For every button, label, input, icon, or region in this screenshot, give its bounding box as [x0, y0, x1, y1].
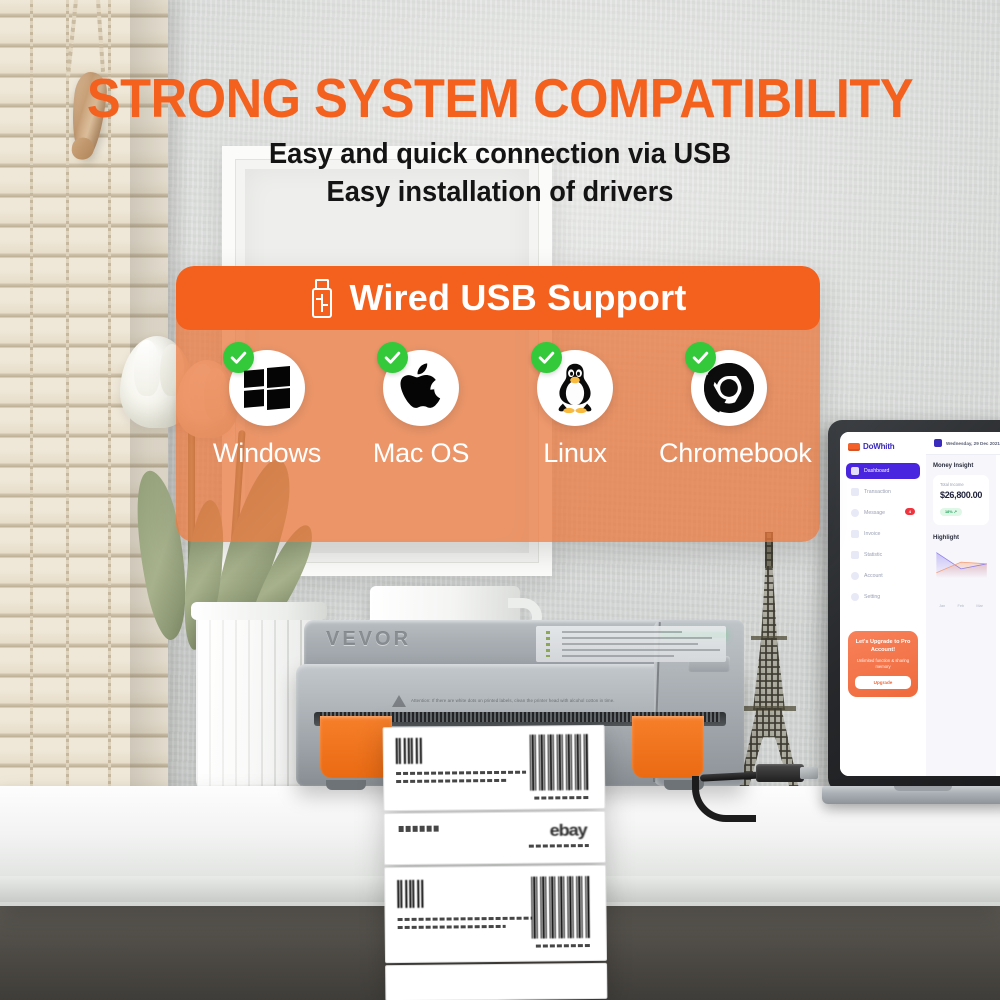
total-income-value: $26,800.00: [940, 490, 982, 500]
printer-foot: [326, 780, 366, 790]
sidebar-item-transaction[interactable]: Transaction: [846, 484, 920, 500]
usb-connector-tip: [800, 767, 818, 779]
printer-brand-logo: VEVOR: [326, 628, 411, 651]
os-item-linux: Linux: [505, 342, 645, 469]
ebay-logo: ebay: [550, 821, 587, 841]
windows-logo-icon: [244, 366, 290, 410]
eiffel-middle: [753, 638, 785, 710]
dashboard-main: Wednesday, 29 Dec 2021 Money Insight Tot…: [926, 432, 1000, 776]
invoice-icon: [851, 530, 859, 538]
os-item-windows: Windows: [197, 342, 337, 469]
dashboard-sidebar: DoWhith Dashboard Transaction Message 4: [840, 432, 926, 776]
os-label: Windows: [197, 438, 337, 469]
dashboard-columns: Money Insight Total Income $26,800.00 18…: [926, 455, 1000, 776]
printer-instruction-label: [536, 626, 726, 662]
dashboard-app: DoWhith Dashboard Transaction Message 4: [840, 432, 1000, 776]
message-badge: 4: [905, 508, 915, 515]
sidebar-item-account[interactable]: Account: [846, 568, 920, 584]
app-logo-text: DoWhith: [863, 442, 894, 451]
logo-mark-icon: [848, 443, 860, 451]
compatibility-panel: Wired USB Support Windows: [176, 266, 820, 542]
money-insight-column: Money Insight Total Income $26,800.00 18…: [926, 455, 996, 776]
os-item-macos: Mac OS: [351, 342, 491, 469]
highlight-title: Highlight: [933, 535, 989, 541]
printer-warning-label: Attention: If there are white dots on pr…: [392, 692, 642, 710]
total-income-card: Total Income $26,800.00 18% ↗: [933, 475, 989, 525]
check-badge-icon: [685, 342, 716, 373]
sidebar-item-label: Account: [864, 573, 883, 579]
upgrade-promo-card: Let's Upgrade to Pro Account! Unlimited …: [848, 631, 918, 697]
shipping-label: [384, 865, 607, 963]
windows-icon-circle: [229, 350, 305, 426]
dashboard-header: Wednesday, 29 Dec 2021: [926, 432, 1000, 455]
chart-x-ticks: Jan Feb Mar: [933, 604, 989, 608]
printer-orange-accent-left: [320, 716, 392, 778]
statistic-icon: [851, 551, 859, 559]
warning-triangle-icon: [392, 695, 406, 707]
laptop-base-notch: [894, 786, 952, 791]
subheadline-2: Easy installation of drivers: [30, 176, 970, 209]
sidebar-item-dashboard[interactable]: Dashboard: [846, 463, 920, 479]
sidebar-item-invoice[interactable]: Invoice: [846, 526, 920, 542]
chrome-icon-circle: [691, 350, 767, 426]
subheadline-1: Easy and quick connection via USB: [30, 138, 970, 171]
message-icon: [851, 509, 859, 517]
sidebar-item-message[interactable]: Message 4: [846, 505, 920, 521]
chart-tick: Mar: [976, 604, 983, 608]
sidebar-item-label: Message: [864, 510, 885, 516]
apple-icon-circle: [383, 350, 459, 426]
sidebar-item-setting[interactable]: Setting: [846, 589, 920, 605]
app-logo: DoWhith: [840, 442, 926, 451]
grid-icon: [851, 467, 859, 475]
total-income-label: Total Income: [940, 482, 982, 487]
check-badge-icon: [531, 342, 562, 373]
shipping-label: ebay: [383, 811, 606, 865]
gear-icon: [851, 593, 859, 601]
eiffel-tower-figurine: [736, 532, 802, 794]
os-label: Linux: [505, 438, 645, 469]
os-label: Chromebook: [659, 438, 799, 469]
product-marketing-image: VEVOR Attention: If there are white dots…: [0, 0, 1000, 1000]
calendar-icon: [934, 439, 942, 447]
sidebar-item-label: Setting: [864, 594, 880, 600]
sidebar-item-label: Invoice: [864, 531, 880, 537]
current-date: Wednesday, 29 Dec 2021: [946, 441, 1000, 446]
recent-activity-column: Recent Activity Account Shopee Nike: [996, 455, 1000, 776]
upgrade-button[interactable]: Upgrade: [855, 676, 911, 689]
pot-rim: [191, 602, 327, 620]
banner-title: Wired USB Support: [349, 277, 686, 319]
account-icon: [851, 572, 859, 580]
led-legend-icon: [546, 631, 550, 657]
linux-icon-circle: [537, 350, 613, 426]
shipping-label: [383, 725, 606, 811]
income-change-chip: 18% ↗: [940, 508, 962, 516]
laptop: DoWhith Dashboard Transaction Message 4: [828, 420, 1000, 820]
sidebar-item-statistic[interactable]: Statistic: [846, 547, 920, 563]
chart-tick: Jan: [939, 604, 945, 608]
printed-shipping-labels: ebay: [383, 725, 610, 1000]
laptop-screen: DoWhith Dashboard Transaction Message 4: [840, 432, 1000, 776]
sidebar-item-label: Transaction: [864, 489, 891, 495]
highlight-line-chart: [933, 547, 989, 603]
chart-svg: [933, 547, 989, 578]
os-support-row: Windows Mac OS: [176, 342, 820, 532]
usb-connector-plug: [756, 764, 804, 782]
transaction-icon: [851, 488, 859, 496]
usb-drive-icon: [309, 278, 335, 318]
wired-usb-banner: Wired USB Support: [176, 266, 820, 330]
chart-tick: Feb: [958, 604, 965, 608]
os-label: Mac OS: [351, 438, 491, 469]
page-headline: STRONG SYSTEM COMPATIBILITY: [40, 66, 960, 130]
sidebar-item-label: Dashboard: [864, 468, 889, 474]
check-badge-icon: [377, 342, 408, 373]
shipping-label: [385, 963, 607, 1000]
eiffel-upper: [761, 566, 777, 640]
money-insight-title: Money Insight: [933, 463, 989, 469]
linux-penguin-icon: [553, 362, 597, 414]
upgrade-subtitle: Unlimited function & sharing memory: [855, 658, 911, 669]
printer-orange-accent-right: [632, 716, 704, 778]
upgrade-title: Let's Upgrade to Pro Account!: [855, 639, 911, 654]
warning-text: Attention: If there are white dots on pr…: [411, 698, 615, 705]
apple-logo-icon: [398, 362, 444, 414]
usb-cable: [700, 762, 832, 792]
os-item-chromebook: Chromebook: [659, 342, 799, 469]
chrome-logo-icon: [703, 362, 755, 414]
sidebar-item-label: Statistic: [864, 552, 882, 558]
